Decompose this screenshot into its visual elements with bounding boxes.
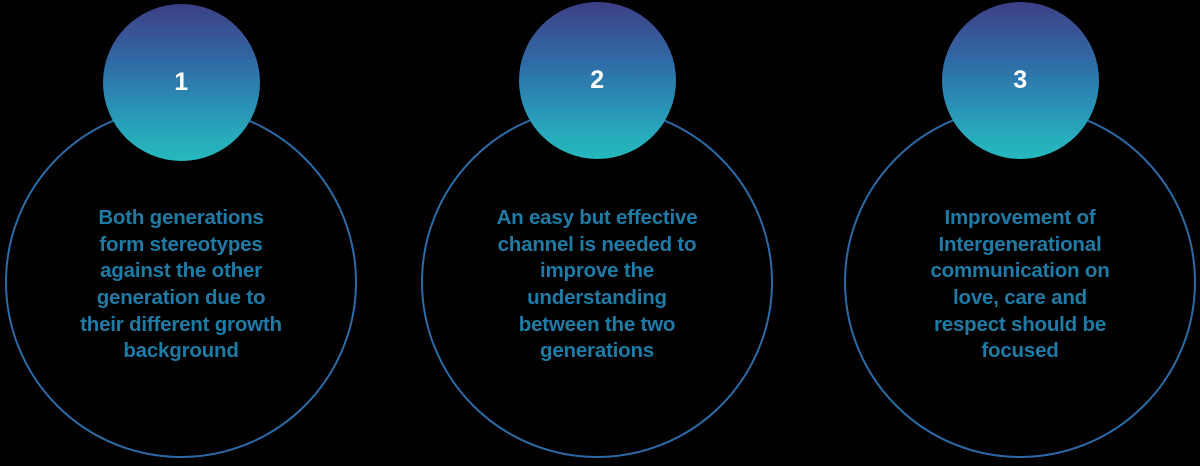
concept-group-3: 3 Improvement of Intergenerational commu…	[800, 0, 1200, 466]
badge-circle-1[interactable]: 1	[103, 4, 260, 161]
concept-group-2: 2 An easy but effective channel is neede…	[400, 0, 800, 466]
diagram-canvas: 1 Both generations form stereotypes agai…	[0, 0, 1200, 466]
badge-number-1: 1	[174, 70, 188, 95]
concept-text-3: Improvement of Intergenerational communi…	[859, 205, 1181, 365]
badge-number-2: 2	[590, 68, 604, 93]
concept-text-1: Both generations form stereotypes agains…	[20, 205, 342, 365]
concept-group-1: 1 Both generations form stereotypes agai…	[0, 0, 400, 466]
badge-circle-2[interactable]: 2	[519, 2, 676, 159]
concept-text-2: An easy but effective channel is needed …	[436, 205, 758, 365]
badge-circle-3[interactable]: 3	[942, 2, 1099, 159]
badge-number-3: 3	[1013, 68, 1027, 93]
